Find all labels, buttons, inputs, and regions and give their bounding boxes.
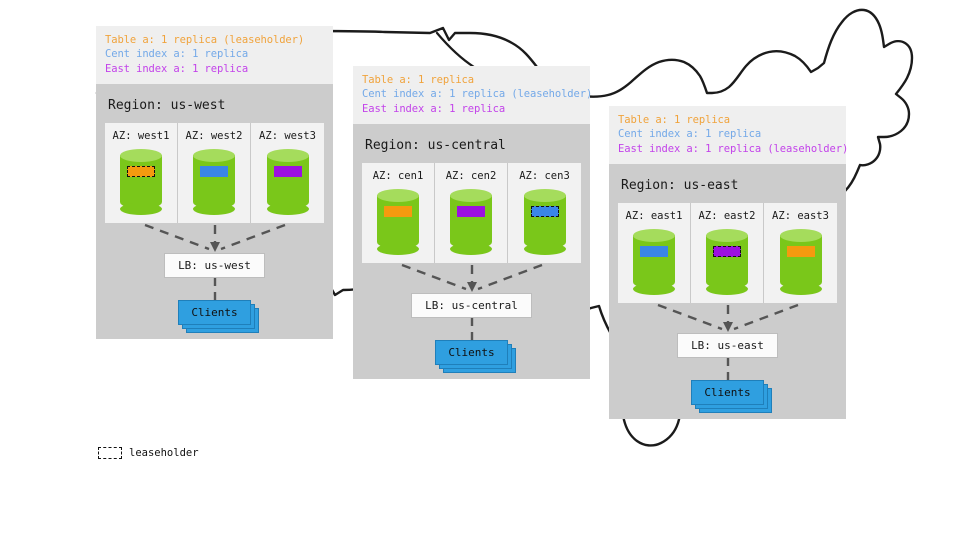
cylinder-top <box>780 229 822 242</box>
replica-bar-east-index-a <box>457 206 485 217</box>
replica-bar-cent-index-a <box>200 166 228 177</box>
cylinder-body <box>780 235 822 289</box>
replica-bar-cent-index-a <box>640 246 668 257</box>
cylinder-bottom <box>377 243 419 255</box>
cylinder-top <box>524 189 566 202</box>
node-cylinder-west2[interactable] <box>193 149 235 215</box>
note-east-index-a: East index a: 1 replica (leaseholder) <box>618 142 837 156</box>
az-west2[interactable]: AZ: west2 <box>178 123 251 223</box>
az-west1[interactable]: AZ: west1 <box>105 123 178 223</box>
az-strip-us-central: AZ: cen1 AZ: cen2 <box>362 163 581 263</box>
legend-label: leaseholder <box>129 447 199 459</box>
az-strip-us-east: AZ: east1 AZ: east2 <box>618 203 837 303</box>
az-cen1[interactable]: AZ: cen1 <box>362 163 435 263</box>
lb-to-clients-connector-us-west <box>105 278 324 300</box>
replica-note-us-east: Table a: 1 replica Cent index a: 1 repli… <box>609 106 846 164</box>
clients-label-us-east[interactable]: Clients <box>691 380 763 405</box>
diagram-canvas: Table a: 1 replica (leaseholder) Cent in… <box>0 0 960 540</box>
clients-stack-us-central[interactable]: Clients <box>435 340 507 365</box>
cylinder-body <box>633 235 675 289</box>
replica-bar-east-index-a-leaseholder <box>713 246 741 257</box>
replica-note-us-west: Table a: 1 replica (leaseholder) Cent in… <box>96 26 333 84</box>
region-us-west: Table a: 1 replica (leaseholder) Cent in… <box>96 26 333 339</box>
note-table-a: Table a: 1 replica <box>362 73 581 87</box>
az-east2[interactable]: AZ: east2 <box>691 203 764 303</box>
replica-bar-table-a-leaseholder <box>127 166 155 177</box>
region-us-east: Table a: 1 replica Cent index a: 1 repli… <box>609 106 846 419</box>
region-title-us-east: Region: us-east <box>618 172 837 203</box>
clients-stack-us-west[interactable]: Clients <box>178 300 250 325</box>
az-east3[interactable]: AZ: east3 <box>764 203 837 303</box>
region-body-us-west: Region: us-west AZ: west1 AZ: west2 <box>96 84 333 339</box>
node-cylinder-east2[interactable] <box>706 229 748 295</box>
clients-label-us-central[interactable]: Clients <box>435 340 507 365</box>
note-table-a: Table a: 1 replica (leaseholder) <box>105 33 324 47</box>
lb-wrap-us-west: LB: us-west <box>105 253 324 278</box>
cylinder-body <box>450 195 492 249</box>
node-cylinder-cen2[interactable] <box>450 189 492 255</box>
clients-wrap-us-west: Clients <box>105 300 324 325</box>
legend: leaseholder <box>98 447 199 459</box>
replica-note-us-central: Table a: 1 replica Cent index a: 1 repli… <box>353 66 590 124</box>
region-title-us-central: Region: us-central <box>362 132 581 163</box>
az-label-west2: AZ: west2 <box>178 130 250 142</box>
cylinder-bottom <box>120 203 162 215</box>
lb-to-clients-connector-us-east <box>618 358 837 380</box>
node-cylinder-cen1[interactable] <box>377 189 419 255</box>
node-to-lb-connectors-us-central <box>362 263 581 293</box>
az-label-cen1: AZ: cen1 <box>362 170 434 182</box>
az-label-cen2: AZ: cen2 <box>435 170 507 182</box>
az-cen2[interactable]: AZ: cen2 <box>435 163 508 263</box>
az-label-west3: AZ: west3 <box>251 130 324 142</box>
clients-stack-us-east[interactable]: Clients <box>691 380 763 405</box>
lb-wrap-us-central: LB: us-central <box>362 293 581 318</box>
cylinder-top <box>377 189 419 202</box>
cylinder-bottom <box>193 203 235 215</box>
load-balancer-us-west[interactable]: LB: us-west <box>164 253 265 278</box>
note-cent-index-a: Cent index a: 1 replica <box>105 47 324 61</box>
cylinder-bottom <box>633 283 675 295</box>
note-table-a: Table a: 1 replica <box>618 113 837 127</box>
az-label-east1: AZ: east1 <box>618 210 690 222</box>
load-balancer-us-central[interactable]: LB: us-central <box>411 293 532 318</box>
node-cylinder-east1[interactable] <box>633 229 675 295</box>
node-to-lb-connectors-us-east <box>618 303 837 333</box>
lb-wrap-us-east: LB: us-east <box>618 333 837 358</box>
cylinder-bottom <box>267 203 309 215</box>
az-label-cen3: AZ: cen3 <box>508 170 581 182</box>
note-east-index-a: East index a: 1 replica <box>105 62 324 76</box>
load-balancer-us-east[interactable]: LB: us-east <box>677 333 778 358</box>
clients-label-us-west[interactable]: Clients <box>178 300 250 325</box>
cylinder-body <box>377 195 419 249</box>
replica-bar-table-a <box>384 206 412 217</box>
az-label-west1: AZ: west1 <box>105 130 177 142</box>
node-cylinder-west1[interactable] <box>120 149 162 215</box>
cylinder-top <box>706 229 748 242</box>
cylinder-bottom <box>706 283 748 295</box>
az-strip-us-west: AZ: west1 AZ: west2 <box>105 123 324 223</box>
cylinder-bottom <box>780 283 822 295</box>
region-body-us-central: Region: us-central AZ: cen1 AZ: cen2 <box>353 124 590 379</box>
region-title-us-west: Region: us-west <box>105 92 324 123</box>
cylinder-body <box>267 155 309 209</box>
note-cent-index-a: Cent index a: 1 replica (leaseholder) <box>362 87 581 101</box>
cylinder-body <box>706 235 748 289</box>
cylinder-top <box>633 229 675 242</box>
node-cylinder-west3[interactable] <box>267 149 309 215</box>
note-cent-index-a: Cent index a: 1 replica <box>618 127 837 141</box>
clients-wrap-us-east: Clients <box>618 380 837 405</box>
dashed-rect-icon <box>98 447 122 459</box>
lb-to-clients-connector-us-central <box>362 318 581 340</box>
replica-bar-table-a <box>787 246 815 257</box>
cylinder-bottom <box>450 243 492 255</box>
region-us-central: Table a: 1 replica Cent index a: 1 repli… <box>353 66 590 379</box>
az-cen3[interactable]: AZ: cen3 <box>508 163 581 263</box>
cylinder-top <box>193 149 235 162</box>
replica-bar-cent-index-a-leaseholder <box>531 206 559 217</box>
az-label-east2: AZ: east2 <box>691 210 763 222</box>
cylinder-body <box>524 195 566 249</box>
node-to-lb-connectors-us-west <box>105 223 324 253</box>
az-west3[interactable]: AZ: west3 <box>251 123 324 223</box>
cylinder-top <box>120 149 162 162</box>
note-east-index-a: East index a: 1 replica <box>362 102 581 116</box>
node-cylinder-cen3[interactable] <box>524 189 566 255</box>
region-body-us-east: Region: us-east AZ: east1 AZ: east2 <box>609 164 846 419</box>
cylinder-top <box>267 149 309 162</box>
cylinder-body <box>120 155 162 209</box>
node-cylinder-east3[interactable] <box>780 229 822 295</box>
replica-bar-east-index-a <box>274 166 302 177</box>
clients-wrap-us-central: Clients <box>362 340 581 365</box>
az-label-east3: AZ: east3 <box>764 210 837 222</box>
az-east1[interactable]: AZ: east1 <box>618 203 691 303</box>
cylinder-body <box>193 155 235 209</box>
cylinder-top <box>450 189 492 202</box>
cylinder-bottom <box>524 243 566 255</box>
